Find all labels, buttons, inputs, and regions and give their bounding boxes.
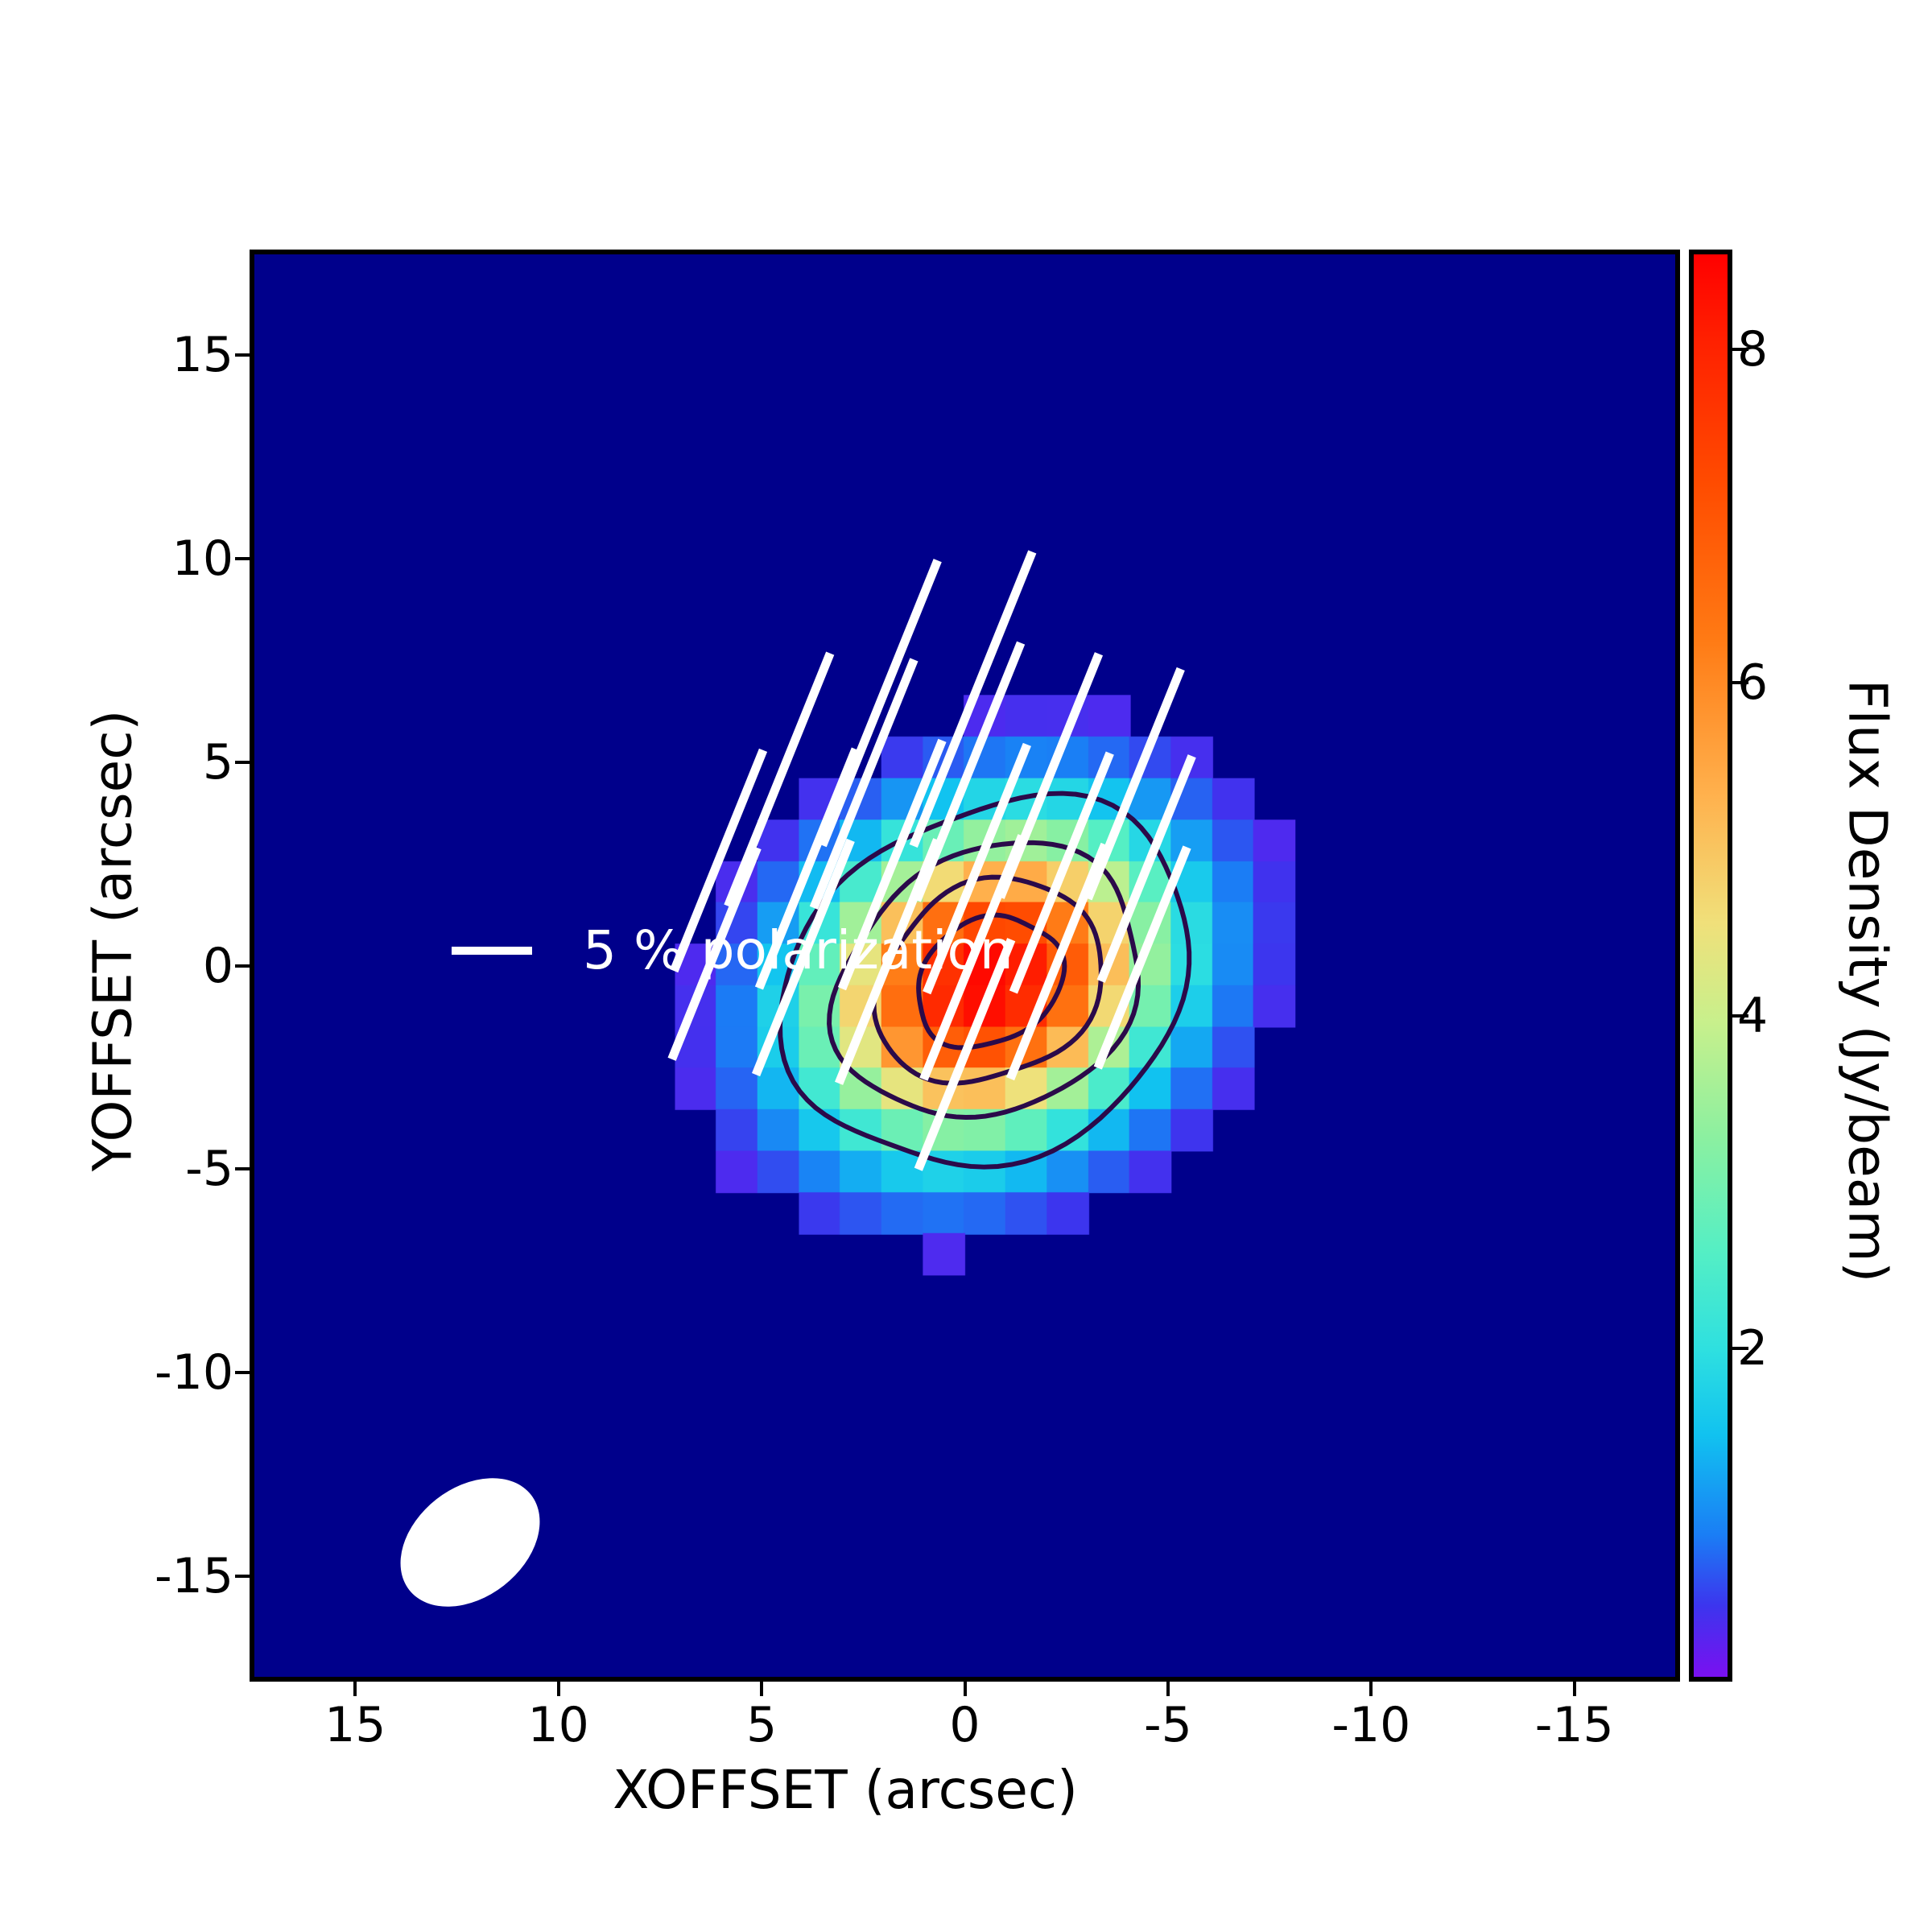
colorbar (1689, 250, 1732, 1682)
polarization-scale-bar (452, 947, 532, 955)
y-tick-mark (235, 1575, 250, 1578)
polarization-vector (914, 551, 1033, 845)
y-tick-label: -5 (185, 1141, 233, 1197)
y-tick-mark (235, 761, 250, 764)
x-tick-label: 10 (527, 1697, 588, 1753)
y-axis-label: YOFFSET (arcsec) (82, 217, 144, 1666)
y-tick-label: 5 (203, 734, 233, 791)
x-tick-mark (1166, 1682, 1170, 1696)
x-axis-label: XOFFSET (arcsec) (0, 1759, 1690, 1821)
y-tick-mark (235, 353, 250, 357)
colorbar-tick-mark (1732, 681, 1748, 684)
y-tick-label: 15 (172, 327, 233, 383)
polarization-map-figure: 5 % polarization 151050-5-10-15151050-5-… (0, 0, 1932, 1932)
polarization-vector (814, 659, 914, 907)
y-tick-mark (235, 557, 250, 560)
y-tick-mark (235, 1167, 250, 1170)
polarization-scale-label: 5 % polarization (583, 919, 1013, 981)
x-tick-mark (1369, 1682, 1373, 1696)
colorbar-label: Flux Density (Jy/beam) (1837, 265, 1899, 1698)
colorbar-tick-mark (1732, 1347, 1748, 1350)
x-tick-label: -15 (1535, 1697, 1614, 1753)
y-tick-mark (235, 964, 250, 968)
x-tick-label: 0 (949, 1697, 980, 1753)
x-tick-mark (1573, 1682, 1576, 1696)
y-tick-label: -10 (155, 1344, 233, 1401)
sky-map-plot-area: 5 % polarization (250, 250, 1680, 1682)
y-tick-mark (235, 1371, 250, 1374)
colorbar-tick-mark (1732, 348, 1748, 351)
colorbar-tick-mark (1732, 1014, 1748, 1018)
y-tick-label: -15 (155, 1548, 233, 1604)
polarization-vector (728, 654, 830, 906)
x-tick-mark (353, 1682, 357, 1696)
x-tick-mark (964, 1682, 967, 1696)
x-tick-mark (557, 1682, 560, 1696)
y-tick-label: 10 (172, 530, 233, 587)
x-tick-label: -10 (1331, 1697, 1410, 1753)
y-tick-label: 0 (203, 938, 233, 994)
x-tick-mark (760, 1682, 763, 1696)
x-tick-label: 15 (324, 1697, 386, 1753)
x-tick-label: -5 (1144, 1697, 1192, 1753)
x-tick-label: 5 (746, 1697, 777, 1753)
